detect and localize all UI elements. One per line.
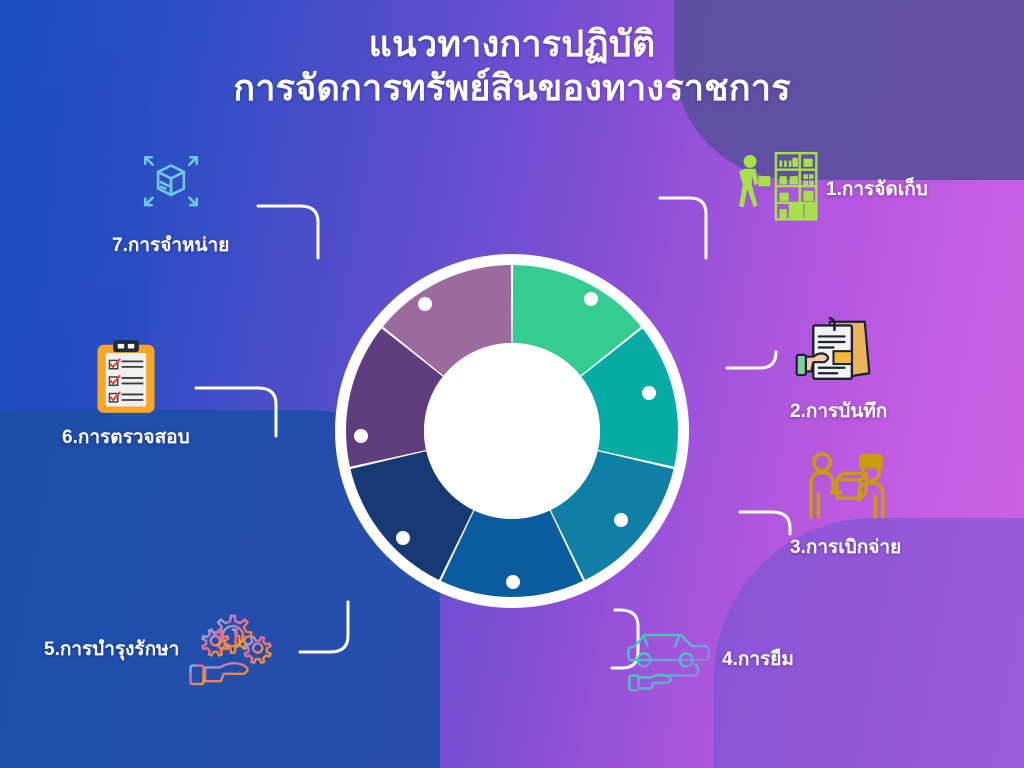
step-label-2: 2.การบันทึก: [790, 396, 887, 426]
step-node-6[interactable]: 6.การตรวจสอบ: [62, 336, 190, 452]
step-node-7[interactable]: 7.การจำหน่าย: [112, 142, 229, 260]
step-label-1: 1.การจัดเก็บ: [826, 174, 928, 204]
document-record-icon: [793, 312, 885, 394]
step-label-5: 5.การบำรุงรักษา: [44, 634, 179, 664]
step-node-4[interactable]: 4.การยืม: [622, 618, 794, 700]
step-node-2[interactable]: 2.การบันทึก: [790, 312, 887, 426]
wheel-hub: [424, 343, 600, 519]
wheel-dot-3[interactable]: [614, 513, 628, 527]
step-label-4: 4.การยืม: [722, 644, 794, 674]
handover-box-icon: [800, 448, 892, 530]
wheel-dot-5[interactable]: [396, 531, 410, 545]
step-node-5[interactable]: 5.การบำรุงรักษา: [44, 608, 277, 690]
title-line-1: แนวทางการปฏิบัติ: [0, 22, 1024, 66]
wheel-dot-7[interactable]: [418, 297, 432, 311]
wheel-dot-2[interactable]: [642, 386, 656, 400]
infographic-canvas: แนวทางการปฏิบัติ การจัดการทรัพย์สินของทา…: [0, 0, 1024, 768]
step-label-3: 3.การเบิกจ่าย: [790, 532, 901, 562]
gear-wrench-hand-icon: [185, 608, 277, 690]
step-label-6: 6.การตรวจสอบ: [62, 422, 190, 452]
warehouse-shelving-icon: [728, 148, 820, 230]
step-label-7: 7.การจำหน่าย: [112, 230, 229, 260]
title-line-2: การจัดการทรัพย์สินของทางราชการ: [0, 66, 1024, 110]
process-wheel: [333, 252, 691, 610]
wheel-dot-4[interactable]: [506, 575, 520, 589]
page-title: แนวทางการปฏิบัติ การจัดการทรัพย์สินของทา…: [0, 22, 1024, 110]
box-distribute-arrows-icon: [125, 142, 217, 224]
wheel-dot-1[interactable]: [584, 292, 598, 306]
clipboard-checklist-icon: [80, 336, 172, 418]
step-node-1[interactable]: 1.การจัดเก็บ: [728, 148, 928, 230]
car-handover-icon: [622, 618, 714, 700]
wheel-dot-6[interactable]: [354, 429, 368, 443]
step-node-3[interactable]: 3.การเบิกจ่าย: [790, 448, 901, 562]
